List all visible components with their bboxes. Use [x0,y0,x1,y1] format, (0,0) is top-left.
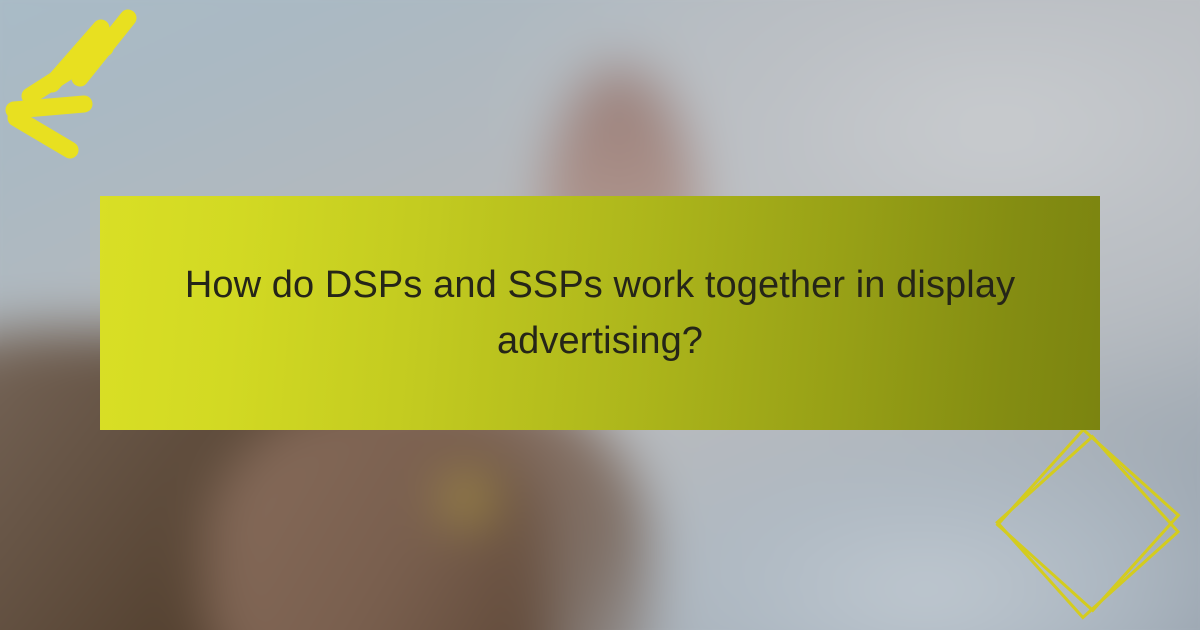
page-title: How do DSPs and SSPs work together in di… [160,257,1040,369]
decorative-square-1 [998,430,1179,611]
background-yellow-glint [435,458,501,541]
title-banner: How do DSPs and SSPs work together in di… [100,196,1100,430]
sunburst-ray-2 [14,104,84,110]
title-card: How do DSPs and SSPs work together in di… [0,0,1200,630]
decorative-square-2 [997,437,1178,618]
sunburst-icon [0,0,230,190]
overlapping-squares-icon [980,420,1200,630]
sunburst-ray-1 [16,118,70,150]
